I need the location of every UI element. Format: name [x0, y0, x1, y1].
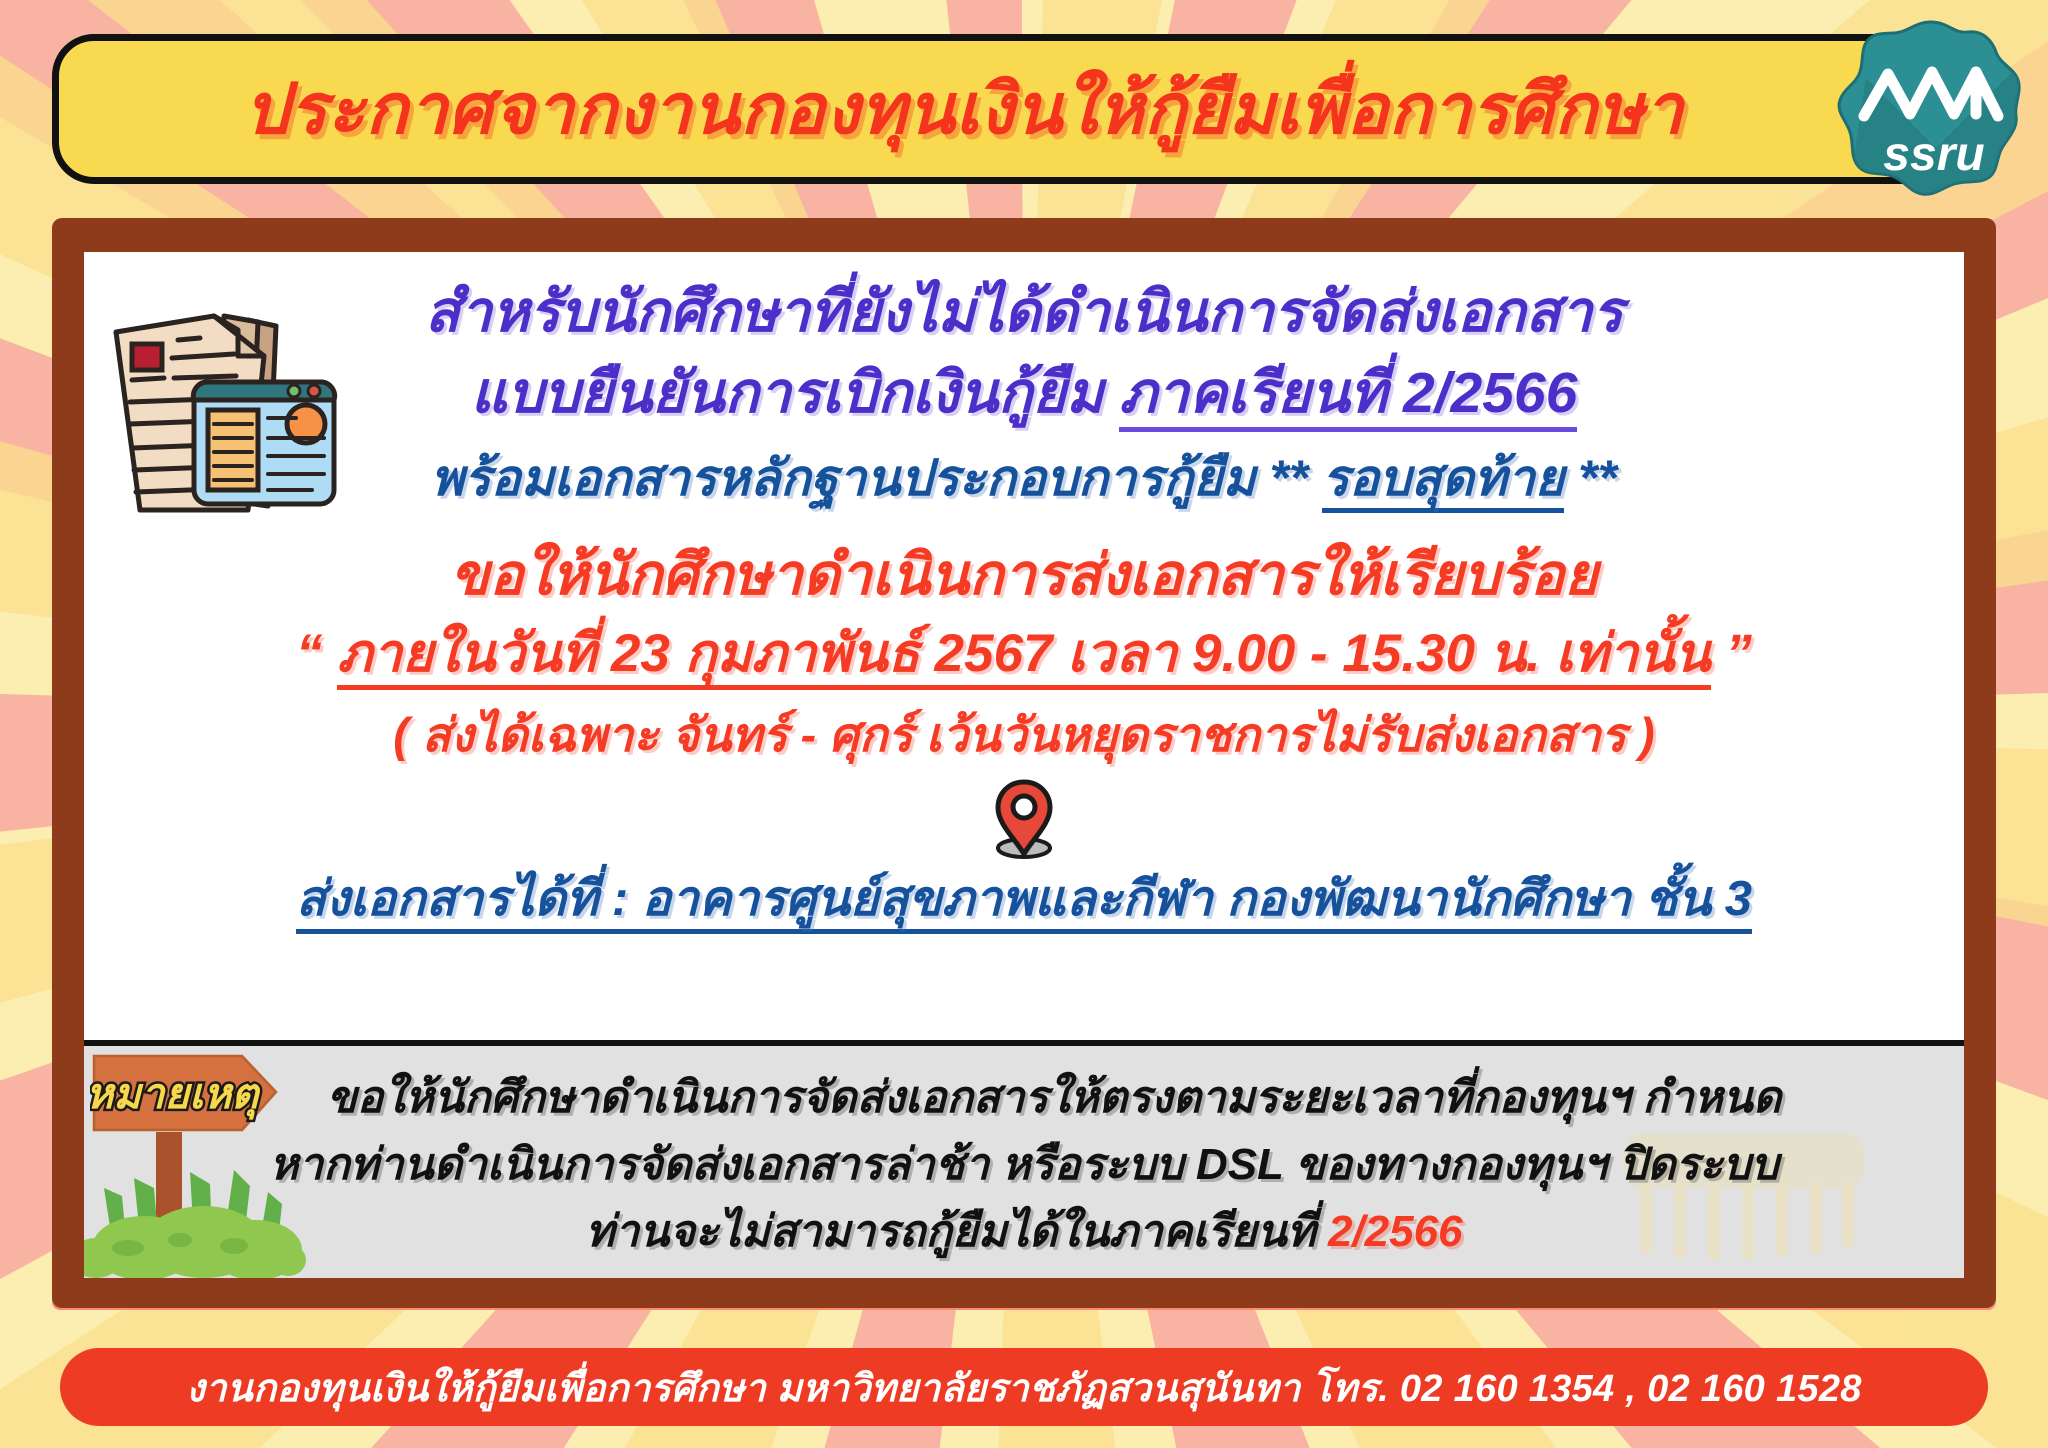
note-line-1: ขอให้นักศึกษาดำเนินการจัดส่งเอกสารให้ตรง…	[124, 1072, 1924, 1125]
body-line-2-prefix: แบบยืนยันการเบิกเงินกู้ยืม	[471, 361, 1120, 425]
ssru-logo-text: ssru	[1883, 128, 1984, 181]
documents-icon	[98, 296, 348, 546]
body-line-4: ขอให้นักศึกษาดำเนินการส่งเอกสารให้เรียบร…	[118, 543, 1930, 608]
open-quote: “	[296, 624, 337, 683]
body-line-2-emphasis: ภาคเรียนที่ 2/2566	[1119, 361, 1577, 432]
body-line-3-prefix: พร้อมเอกสารหลักฐานประกอบการกู้ยืม **	[431, 450, 1322, 506]
note-line-3-prefix: ท่านจะไม่สามารถกู้ยืมได้ในภาคเรียนที่	[585, 1207, 1327, 1256]
header-ribbon: ประกาศจากงานกองทุนเงินให้กู้ยืมเพื่อการศ…	[52, 34, 1996, 184]
note-line-3: ท่านจะไม่สามารถกู้ยืมได้ในภาคเรียนที่ 2/…	[124, 1206, 1924, 1259]
close-quote: ”	[1711, 624, 1752, 683]
footer-contact-text: งานกองทุนเงินให้กู้ยืมเพื่อการศึกษา มหาว…	[186, 1357, 1861, 1418]
footer-contact-bar: งานกองทุนเงินให้กู้ยืมเพื่อการศึกษา มหาว…	[60, 1348, 1988, 1426]
body-line-3: พร้อมเอกสารหลักฐานประกอบการกู้ยืม ** รอบ…	[118, 450, 1930, 513]
location-pin-icon	[118, 778, 1930, 860]
ssru-logo-svg: ssru	[1836, 18, 2026, 198]
main-announcement-card: สำหรับนักศึกษาที่ยังไม่ได้ดำเนินการจัดส่…	[52, 218, 1996, 1308]
body-line-5-deadline: “ ภายในวันที่ 23 กุมภาพันธ์ 2567 เวลา 9.…	[118, 624, 1930, 690]
deadline-emphasis: ภายในวันที่ 23 กุมภาพันธ์ 2567 เวลา 9.00…	[337, 624, 1710, 690]
announcement-body: สำหรับนักศึกษาที่ยังไม่ได้ดำเนินการจัดส่…	[84, 252, 1964, 1032]
location-pin-icon-svg	[993, 778, 1055, 860]
page-title: ประกาศจากงานกองทุนเงินให้กู้ยืมเพื่อการศ…	[244, 74, 1803, 144]
card-inner: สำหรับนักศึกษาที่ยังไม่ได้ดำเนินการจัดส่…	[84, 252, 1964, 1278]
body-line-3-suffix: **	[1564, 450, 1617, 506]
note-line-2: หากท่านดำเนินการจัดส่งเอกสารล่าช้า หรือร…	[124, 1139, 1924, 1192]
body-line-7-location: ส่งเอกสารได้ที่ : อาคารศูนย์สุขภาพและกีฬ…	[118, 872, 1930, 934]
location-emphasis: ส่งเอกสารได้ที่ : อาคารศูนย์สุขภาพและกีฬ…	[296, 872, 1752, 934]
body-line-3-emphasis: รอบสุดท้าย	[1322, 450, 1564, 513]
body-line-2: แบบยืนยันการเบิกเงินกู้ยืม ภาคเรียนที่ 2…	[118, 361, 1930, 432]
body-line-1: สำหรับนักศึกษาที่ยังไม่ได้ดำเนินการจัดส่…	[118, 280, 1930, 345]
documents-icon-svg	[98, 296, 348, 546]
note-line-3-term: 2/2566	[1328, 1207, 1463, 1256]
body-line-6-hours: ( ส่งได้เฉพาะ จันทร์ - ศุกร์ เว้นวันหยุด…	[118, 708, 1930, 762]
ssru-badge-logo: ssru	[1836, 18, 2026, 198]
note-section: หมายเหตุ	[84, 1046, 1964, 1278]
